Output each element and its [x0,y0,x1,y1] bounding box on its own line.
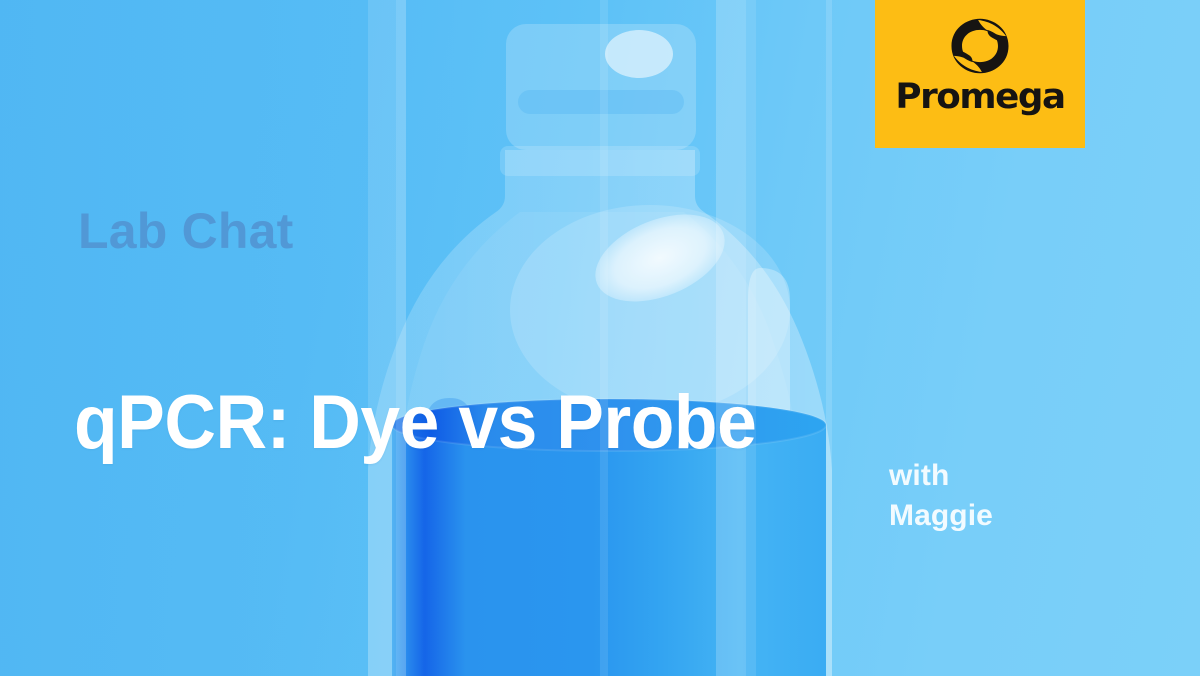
promega-logo: Promega [875,0,1085,148]
lab-chat-title-slide: Lab Chat qPCR: Dye vs Probe with Maggie … [0,0,1200,676]
promega-ring-mark-icon [949,17,1011,75]
series-label: Lab Chat [78,206,294,256]
promega-wordmark: Promega [895,80,1064,115]
host-credit: with Maggie [889,456,993,536]
host-credit-prefix: with [889,456,993,496]
host-credit-name: Maggie [889,496,993,536]
page-title: qPCR: Dye vs Probe [74,385,756,461]
